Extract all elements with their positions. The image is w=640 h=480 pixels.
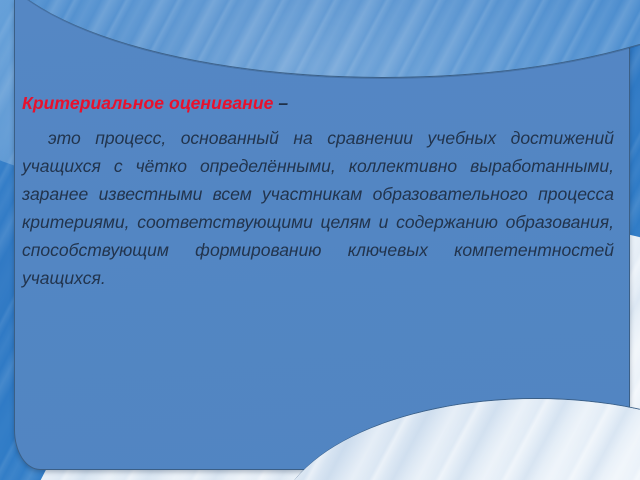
definition-dash: – — [273, 93, 288, 113]
definition-heading: Критериальное оценивание – — [22, 92, 614, 114]
slide-canvas: Критериальное оценивание – это процесс, … — [0, 0, 640, 480]
content-panel-wrapper: Критериальное оценивание – это процесс, … — [14, 0, 630, 470]
text-block: Критериальное оценивание – это процесс, … — [14, 0, 630, 470]
definition-body: это процесс, основанный на сравнении уче… — [22, 124, 614, 320]
definition-term: Критериальное оценивание — [22, 93, 273, 113]
